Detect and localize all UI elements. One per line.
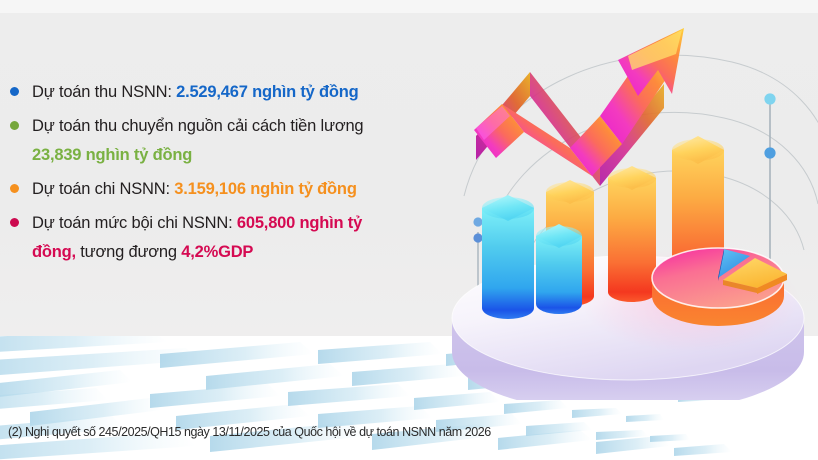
bar-4 bbox=[608, 166, 656, 302]
marker-dot-mid bbox=[764, 147, 775, 158]
bullet-line-2: 23,839 nghìn tỷ đồng bbox=[32, 141, 440, 170]
chart-illustration bbox=[432, 0, 818, 400]
bullet-label: Dự toán chi NSNN: bbox=[32, 180, 174, 198]
pie-chart bbox=[652, 248, 787, 326]
bullet-label: Dự toán thu chuyển nguồn cải cách tiền l… bbox=[32, 117, 363, 135]
bullet-label: Dự toán thu NSNN: bbox=[32, 83, 176, 101]
illustration-svg bbox=[432, 0, 818, 400]
bullet-item-salary-reform: Dự toán thu chuyển nguồn cải cách tiền l… bbox=[0, 112, 440, 170]
infographic-canvas: Dự toán thu NSNN: 2.529,467 nghìn tỷ đồn… bbox=[0, 0, 818, 460]
right-marker bbox=[764, 93, 775, 268]
bullet-dot-orange bbox=[10, 184, 19, 193]
bullet-item-revenue: Dự toán thu NSNN: 2.529,467 nghìn tỷ đồn… bbox=[0, 78, 440, 107]
bar-2 bbox=[536, 224, 582, 314]
bullet-line: Dự toán mức bội chi NSNN: 605,800 nghìn … bbox=[32, 209, 440, 238]
bullet-value-cont: đồng, bbox=[32, 243, 76, 261]
growth-arrow bbox=[474, 28, 684, 186]
bullet-value: 605,800 nghìn tỷ bbox=[237, 214, 362, 232]
bullet-item-deficit: Dự toán mức bội chi NSNN: 605,800 nghìn … bbox=[0, 209, 440, 267]
bullet-value: 2.529,467 nghìn tỷ đồng bbox=[176, 83, 358, 101]
bullet-dot-green bbox=[10, 121, 19, 130]
bullet-value: 3.159,106 nghìn tỷ đồng bbox=[174, 180, 356, 198]
bullet-dot-blue bbox=[10, 87, 19, 96]
marker-dot-lower bbox=[473, 233, 482, 242]
bullet-list: Dự toán thu NSNN: 2.529,467 nghìn tỷ đồn… bbox=[0, 78, 440, 272]
bullet-value: 23,839 nghìn tỷ đồng bbox=[32, 146, 192, 164]
bullet-label: Dự toán mức bội chi NSNN: bbox=[32, 214, 237, 232]
bullet-item-expenditure: Dự toán chi NSNN: 3.159,106 nghìn tỷ đồn… bbox=[0, 175, 440, 204]
footnote: (2) Nghị quyết số 245/2025/QH15 ngày 13/… bbox=[8, 425, 491, 439]
marker-dot-top bbox=[764, 93, 775, 104]
bullet-line: Dự toán chi NSNN: 3.159,106 nghìn tỷ đồn… bbox=[32, 175, 440, 204]
bullet-label-cont: tương đương bbox=[76, 243, 181, 261]
bar-1 bbox=[482, 195, 534, 319]
bullet-line-2: đồng, tương đương 4,2%GDP bbox=[32, 238, 440, 267]
bullet-dot-crimson bbox=[10, 218, 19, 227]
marker-dot-upper bbox=[473, 217, 482, 226]
bullet-line: Dự toán thu chuyển nguồn cải cách tiền l… bbox=[32, 112, 440, 141]
bullet-gdp-value: 4,2%GDP bbox=[181, 243, 253, 261]
bullet-line: Dự toán thu NSNN: 2.529,467 nghìn tỷ đồn… bbox=[32, 78, 440, 107]
